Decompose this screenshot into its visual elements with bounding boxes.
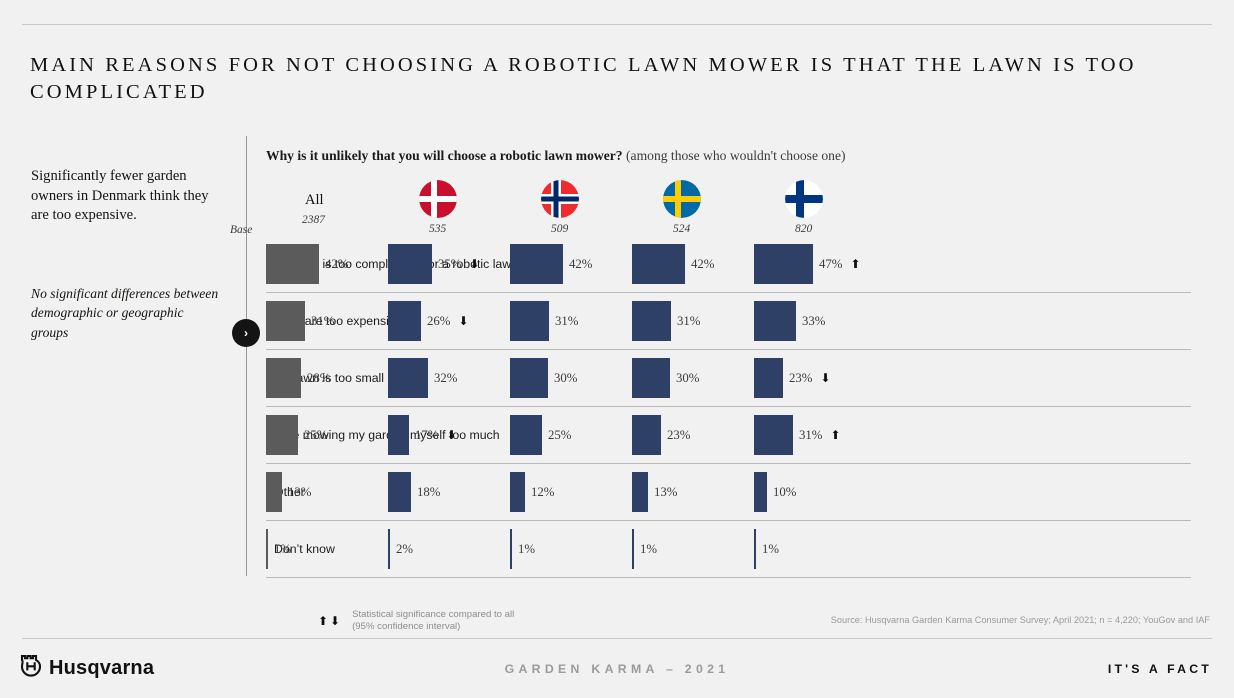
bar: [632, 244, 685, 284]
bar-value-label: 1%: [274, 542, 291, 557]
base-label: Base: [230, 224, 252, 236]
chart-area: Base All2387535509524820 My lawn is too …: [266, 180, 1191, 576]
bar: [754, 244, 813, 284]
bar-value-label: 23%: [789, 371, 812, 386]
slide-canvas: MAIN REASONS FOR NOT CHOOSING A ROBOTIC …: [0, 0, 1234, 698]
bar-value-label: 13%: [288, 485, 311, 500]
bar-value-label: 26%: [427, 314, 450, 329]
vertical-divider: [246, 136, 247, 576]
bar: [388, 244, 432, 284]
chart-row: I like mowing my garden myself too much2…: [266, 407, 1191, 464]
footer-divider: [22, 638, 1212, 639]
footer-right-text: IT'S A FACT: [1108, 662, 1212, 676]
bar: [510, 529, 512, 569]
bar: [388, 415, 409, 455]
bar: [266, 415, 298, 455]
bar: [632, 301, 671, 341]
significance-legend: ⬆⬇ Statistical significance compared to …: [318, 609, 514, 632]
bar-group: 26%⬇: [388, 301, 469, 341]
flag-denmark-icon: [419, 180, 457, 218]
bar: [388, 358, 428, 398]
bar: [388, 301, 421, 341]
bar: [266, 358, 301, 398]
base-value-all: 2387: [302, 214, 378, 226]
bar-value-label: 18%: [417, 485, 440, 500]
bar-group: 1%: [754, 529, 779, 569]
column-header-dk: 535: [388, 180, 500, 235]
bar-value-label: 31%: [677, 314, 700, 329]
significance-down-icon: ⬇: [458, 315, 468, 327]
bar-group: 25%: [266, 415, 327, 455]
column-header-no: 509: [510, 180, 622, 235]
bar-group: 1%: [632, 529, 657, 569]
bar-group: 31%⬆: [754, 415, 841, 455]
sidebar-note-primary: Significantly fewer garden owners in Den…: [31, 167, 221, 226]
bar: [266, 472, 282, 512]
bar-value-label: 1%: [762, 542, 779, 557]
bar-group: 30%: [632, 358, 699, 398]
significance-up-icon: ⬆: [830, 429, 840, 441]
bar-value-label: 32%: [434, 371, 457, 386]
legend-text: Statistical significance compared to all…: [352, 609, 514, 632]
chart-rows: My lawn is too complicated for a robotic…: [266, 236, 1191, 578]
bar-group: 42%: [510, 244, 592, 284]
base-value-dk: 535: [429, 223, 500, 235]
bar: [632, 472, 648, 512]
flag-norway-icon: [541, 180, 579, 218]
bar-group: 25%: [510, 415, 571, 455]
bar-value-label: 35%: [438, 257, 461, 272]
question-text: Why is it unlikely that you will choose …: [266, 148, 623, 163]
bar-group: 10%: [754, 472, 796, 512]
bar-group: 35%⬇: [388, 244, 480, 284]
bar-group: 12%: [510, 472, 554, 512]
next-chevron-icon[interactable]: ›: [232, 319, 260, 347]
significance-arrows-icon: ⬆⬇: [318, 614, 342, 628]
base-value-fi: 820: [795, 223, 866, 235]
bar: [266, 244, 319, 284]
bar-group: 47%⬆: [754, 244, 861, 284]
bar-group: 31%: [266, 301, 334, 341]
significance-down-icon: ⬇: [446, 429, 456, 441]
sidebar-note-secondary: No significant differences between demog…: [31, 284, 221, 342]
bar-group: 23%⬇: [754, 358, 831, 398]
chart-row: Don’t know1%2%1%1%1%: [266, 521, 1191, 578]
page-title: MAIN REASONS FOR NOT CHOOSING A ROBOTIC …: [30, 52, 1190, 106]
bar: [510, 301, 549, 341]
bar-value-label: 31%: [799, 428, 822, 443]
bar-group: 18%: [388, 472, 440, 512]
significance-up-icon: ⬆: [850, 258, 860, 270]
bar: [510, 472, 525, 512]
column-header-all: All2387: [266, 180, 378, 226]
bar-value-label: 30%: [676, 371, 699, 386]
bar-value-label: 13%: [654, 485, 677, 500]
bar-value-label: 30%: [554, 371, 577, 386]
significance-down-icon: ⬇: [820, 372, 830, 384]
bar-value-label: 10%: [773, 485, 796, 500]
bar-value-label: 17%: [415, 428, 438, 443]
legend-line-2: (95% confidence interval): [352, 621, 460, 632]
flag-sweden-icon: [663, 180, 701, 218]
bar-group: 13%: [266, 472, 311, 512]
significance-down-icon: ⬇: [469, 258, 479, 270]
bar-group: 31%: [632, 301, 700, 341]
bar-group: 42%: [266, 244, 348, 284]
footer-center-text: GARDEN KARMA – 2021: [0, 662, 1234, 676]
bar: [754, 472, 767, 512]
chart-row: Other13%18%12%13%10%: [266, 464, 1191, 521]
bar: [754, 358, 783, 398]
column-header-fi: 820: [754, 180, 866, 235]
base-value-no: 509: [551, 223, 622, 235]
bar-group: 32%: [388, 358, 457, 398]
source-note: Source: Husqvarna Garden Karma Consumer …: [831, 615, 1210, 625]
bar: [754, 415, 793, 455]
column-label-all: All: [305, 192, 378, 209]
top-divider: [22, 24, 1212, 25]
bar-value-label: 28%: [307, 371, 330, 386]
bar-group: 42%: [632, 244, 714, 284]
bar-value-label: 1%: [640, 542, 657, 557]
bar: [754, 301, 796, 341]
question-header: Why is it unlikely that you will choose …: [266, 148, 846, 164]
bar-group: 31%: [510, 301, 578, 341]
column-header-se: 524: [632, 180, 744, 235]
bar-value-label: 42%: [325, 257, 348, 272]
bar-value-label: 33%: [802, 314, 825, 329]
bar-value-label: 42%: [569, 257, 592, 272]
bar: [510, 244, 563, 284]
bar-group: 33%: [754, 301, 825, 341]
bar-value-label: 31%: [555, 314, 578, 329]
bar: [388, 472, 411, 512]
bar-value-label: 31%: [311, 314, 334, 329]
bar-value-label: 23%: [667, 428, 690, 443]
bar: [632, 358, 670, 398]
flag-finland-icon: [785, 180, 823, 218]
bar: [266, 301, 305, 341]
bar-group: 1%: [510, 529, 535, 569]
bar-group: 30%: [510, 358, 577, 398]
bar-group: 17%⬇: [388, 415, 457, 455]
chart-row: My lawn is too complicated for a robotic…: [266, 236, 1191, 293]
base-value-se: 524: [673, 223, 744, 235]
bar-group: 13%: [632, 472, 677, 512]
bar: [754, 529, 756, 569]
bar-value-label: 42%: [691, 257, 714, 272]
bar-group: 2%: [388, 529, 413, 569]
bar-value-label: 2%: [396, 542, 413, 557]
bar: [266, 529, 268, 569]
bar-value-label: 12%: [531, 485, 554, 500]
legend-line-1: Statistical significance compared to all: [352, 609, 514, 620]
bar-value-label: 25%: [304, 428, 327, 443]
chart-row: My lawn is too small28%32%30%30%23%⬇: [266, 350, 1191, 407]
bar: [632, 529, 634, 569]
bar: [632, 415, 661, 455]
question-subtext: (among those who wouldn't choose one): [623, 148, 846, 163]
bar-group: 1%: [266, 529, 291, 569]
bar-value-label: 1%: [518, 542, 535, 557]
bar-value-label: 47%: [819, 257, 842, 272]
bar-group: 28%: [266, 358, 330, 398]
bar-value-label: 25%: [548, 428, 571, 443]
bar-group: 23%: [632, 415, 690, 455]
bar: [510, 415, 542, 455]
bar: [510, 358, 548, 398]
chart-row: They are too expensive31%26%⬇31%31%33%: [266, 293, 1191, 350]
bar: [388, 529, 390, 569]
